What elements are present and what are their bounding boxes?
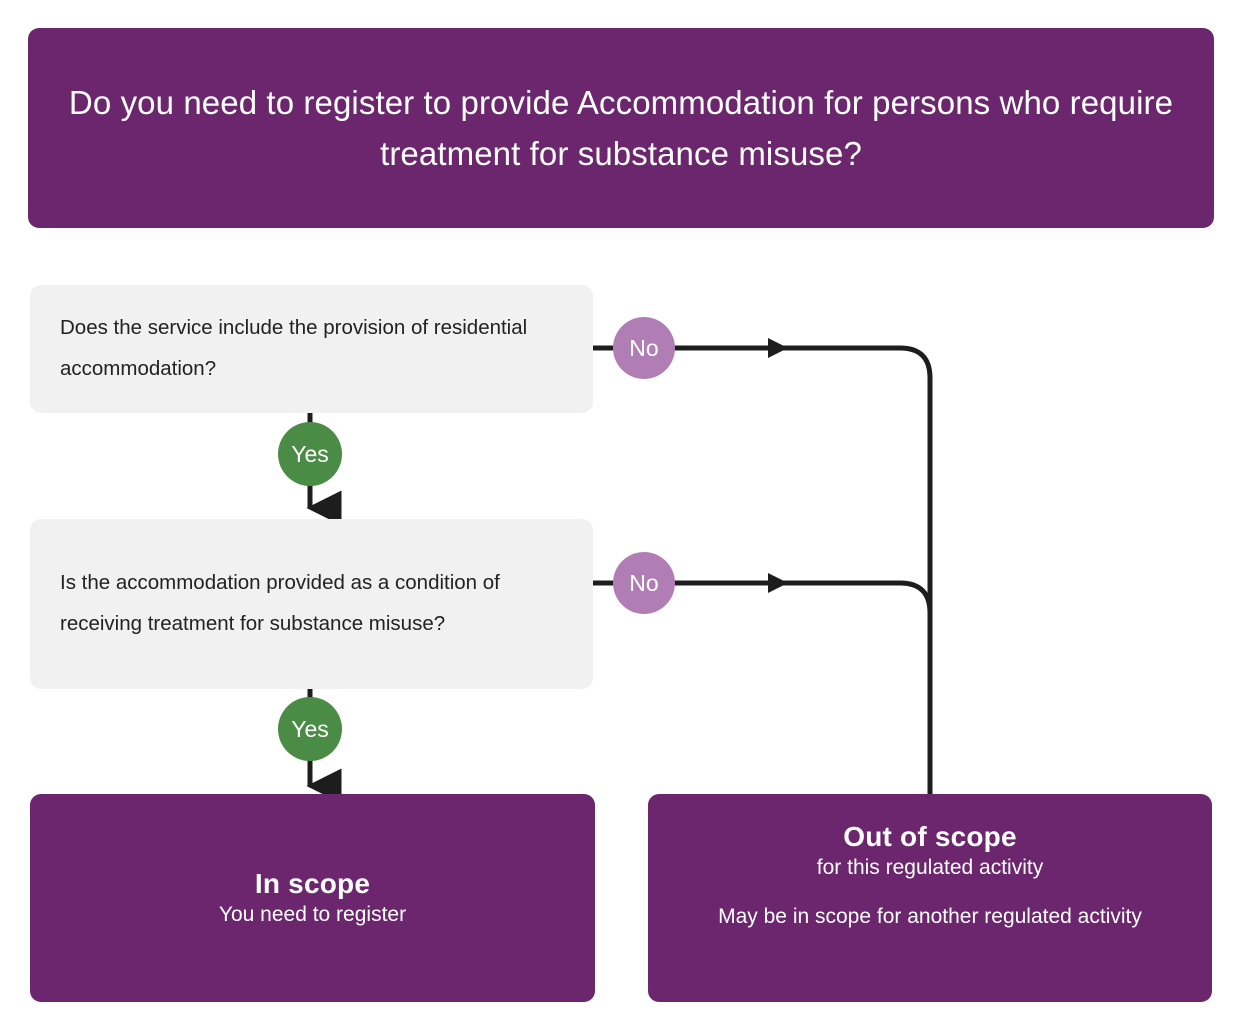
question-box-condition-of-treatment[interactable]: Is the accommodation provided as a condi… [30,519,593,689]
badge-label: No [629,335,658,362]
result-box-out-of-scope[interactable]: Out of scope for this regulated activity… [648,794,1212,1002]
question-text: Is the accommodation provided as a condi… [60,563,563,644]
decision-badge-yes-q1[interactable]: Yes [278,422,342,486]
result-heading: In scope [255,867,370,901]
badge-label: No [629,570,658,597]
result-subtext: for this regulated activity [817,854,1043,881]
decision-badge-yes-q2[interactable]: Yes [278,697,342,761]
page-title: Do you need to register to provide Accom… [68,77,1174,179]
connector-q2-no-arrowhead [768,573,788,593]
result-note: May be in scope for another regulated ac… [718,901,1142,933]
badge-label: Yes [291,441,329,468]
flowchart-canvas: Do you need to register to provide Accom… [0,0,1240,1031]
result-heading: Out of scope [843,820,1017,854]
result-subtext: You need to register [219,901,406,928]
decision-badge-no-q1[interactable]: No [613,317,675,379]
flowchart-title-box: Do you need to register to provide Accom… [28,28,1214,228]
connector-q1-no-arrowhead [768,338,788,358]
badge-label: Yes [291,716,329,743]
connector-q1-no-branch [674,348,930,795]
result-box-in-scope[interactable]: In scope You need to register [30,794,595,1002]
decision-badge-no-q2[interactable]: No [613,552,675,614]
question-text: Does the service include the provision o… [60,308,563,389]
connector-q2-no-branch [674,583,930,795]
question-box-residential-accommodation[interactable]: Does the service include the provision o… [30,285,593,413]
